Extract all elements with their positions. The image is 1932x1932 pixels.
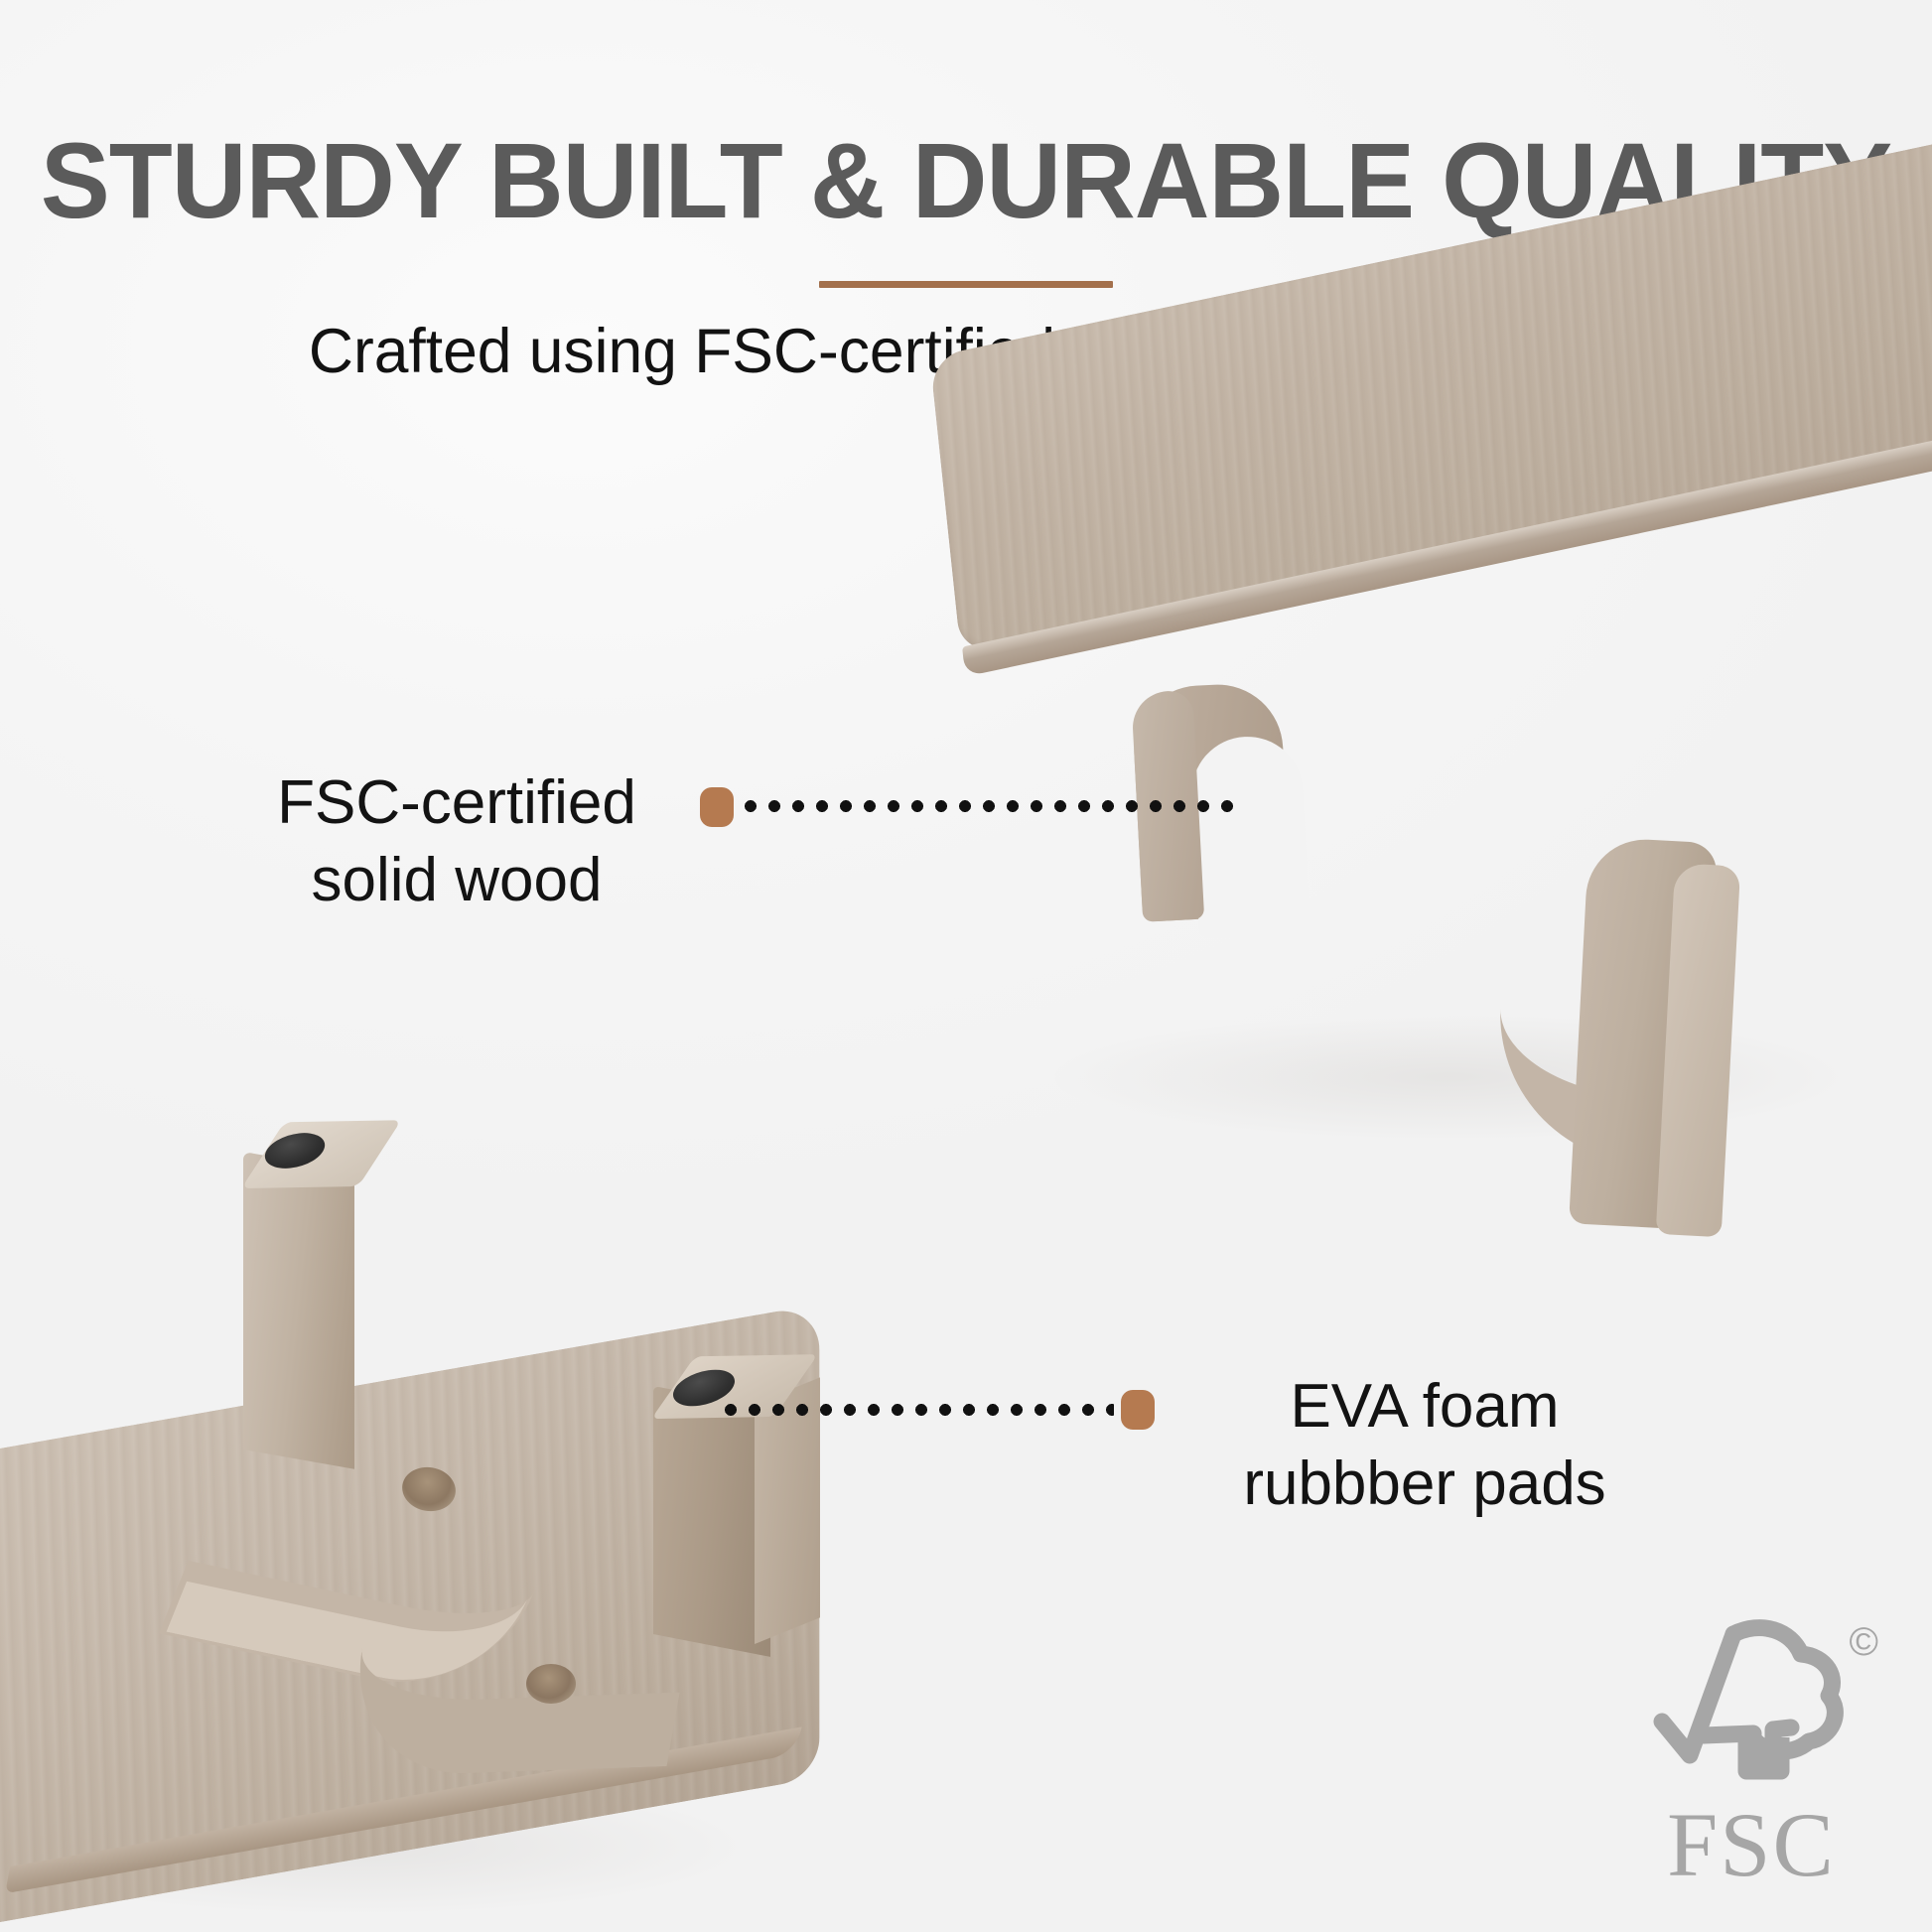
leg-post <box>653 1386 770 1657</box>
product-photo-upright-stand <box>929 120 1932 1052</box>
title-divider <box>819 281 1113 288</box>
inverted-leg-left <box>243 1152 501 1519</box>
callout-line-2: rubbber pads <box>1216 1446 1633 1523</box>
leg-post <box>243 1152 354 1469</box>
fsc-tree-checkmark-icon <box>1642 1612 1861 1796</box>
stand-leg-front <box>1489 832 1768 1242</box>
callout-label-fsc-certified: FSC-certified solid wood <box>263 764 650 919</box>
inverted-leg-right <box>645 1368 854 1696</box>
callout-leader-line-fsc-certified <box>739 800 1235 812</box>
wood-dowel-plug <box>526 1664 576 1704</box>
callout-leader-line-eva-foam <box>719 1404 1114 1416</box>
callout-line-1: EVA foam <box>1216 1368 1633 1446</box>
copyright-icon: © <box>1850 1622 1878 1662</box>
leg-arch-cutout <box>1189 734 1311 938</box>
infographic-canvas: STURDY BUILT & DURABLE QUALITY Crafted u… <box>0 0 1932 1932</box>
fsc-logo: © FSC <box>1622 1612 1880 1890</box>
callout-line-1: FSC-certified <box>263 764 650 842</box>
fsc-wordmark: FSC <box>1622 1799 1880 1890</box>
callout-label-eva-foam: EVA foam rubbber pads <box>1216 1368 1633 1523</box>
callout-marker-eva-foam <box>1121 1390 1155 1430</box>
callout-line-2: solid wood <box>263 842 650 919</box>
leg-post-side <box>755 1377 820 1644</box>
callout-marker-fsc-certified <box>700 787 734 827</box>
